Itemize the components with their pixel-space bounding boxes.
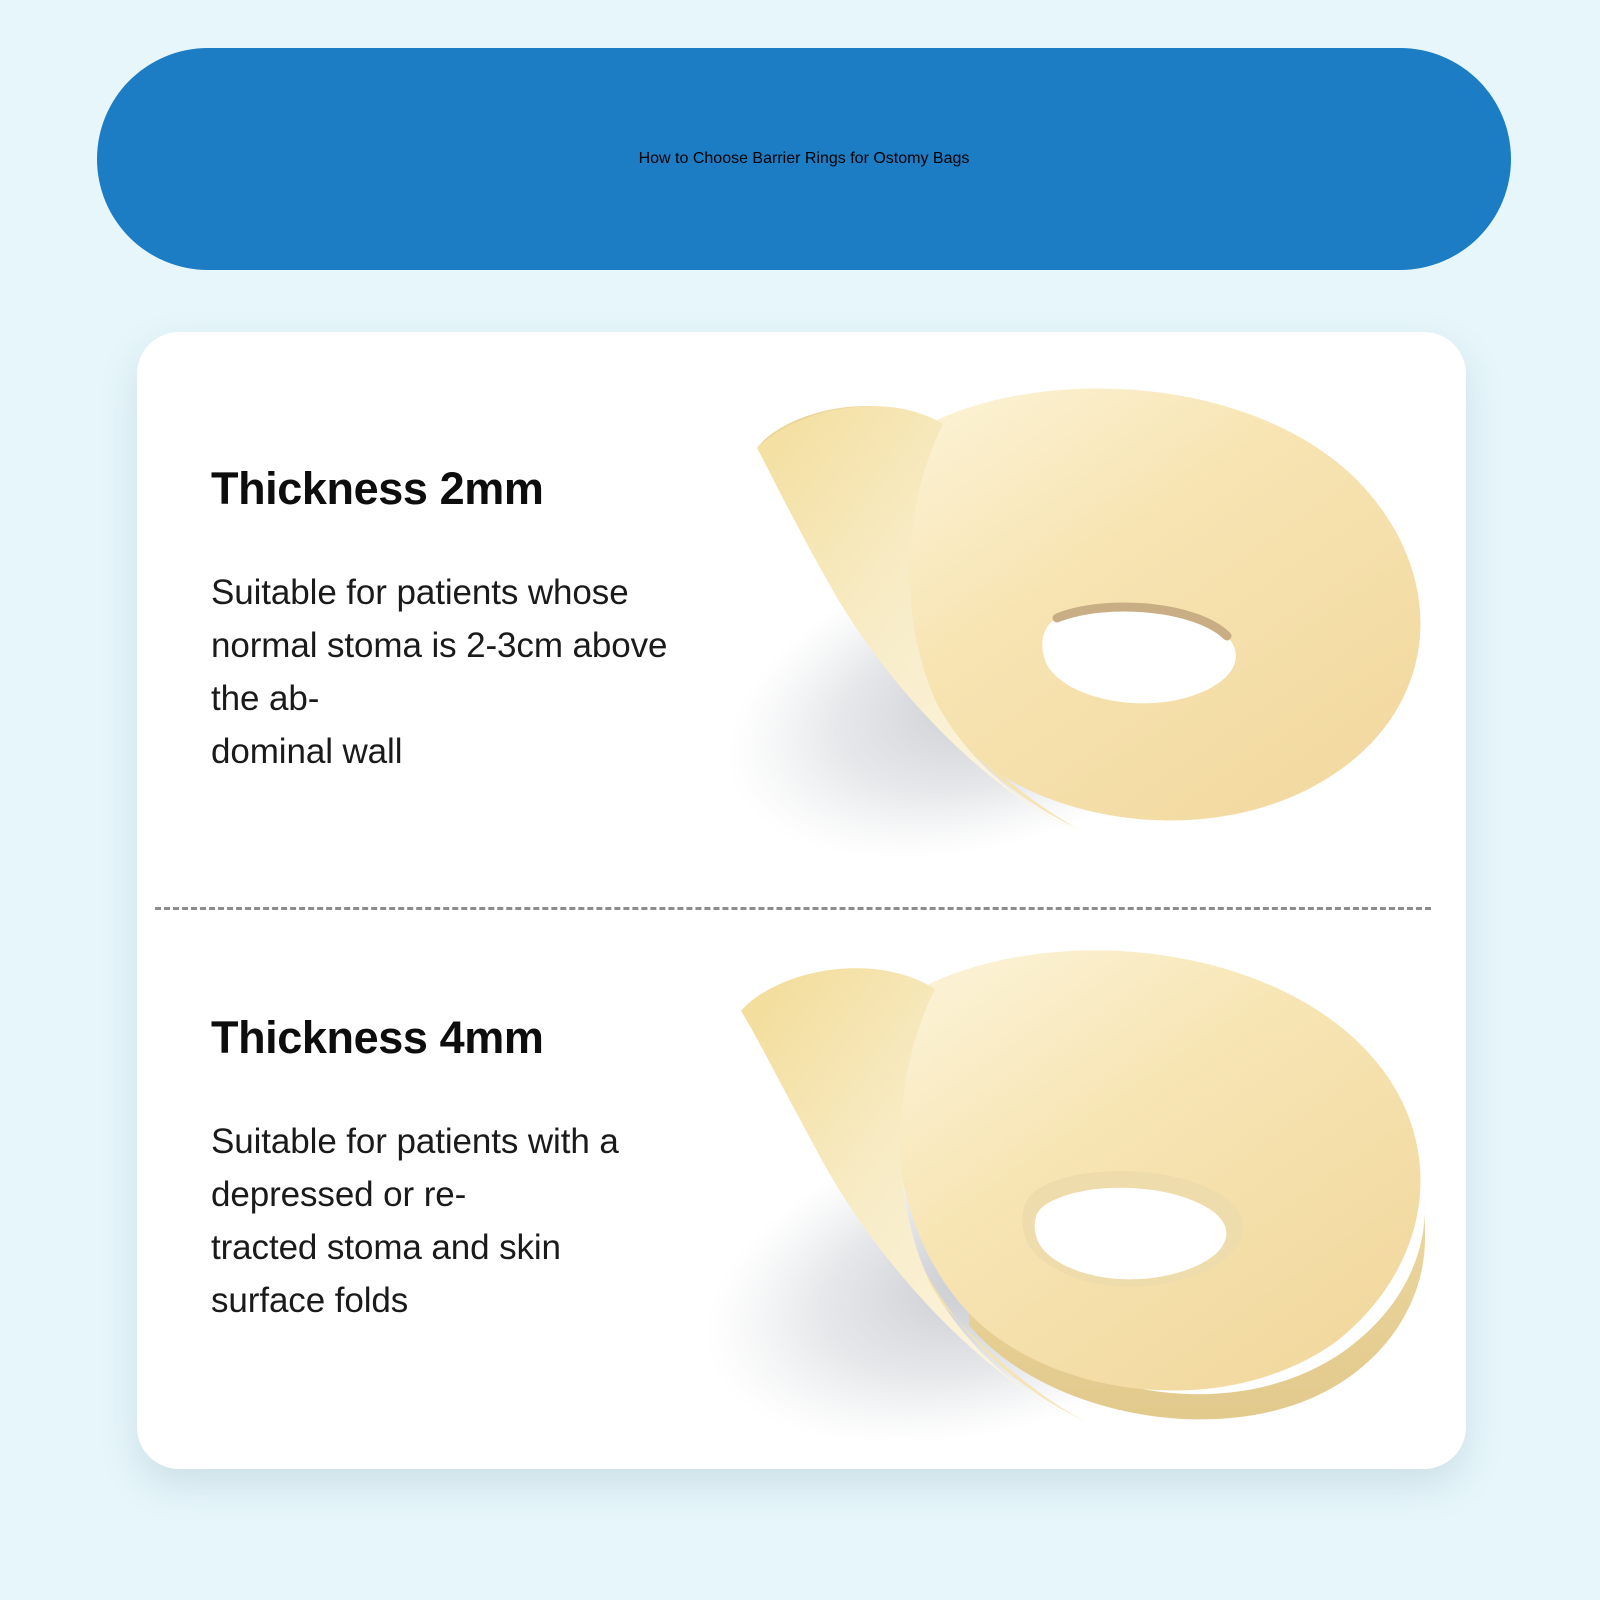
section-2mm-text-block: Thickness 2mm Suitable for patients whos…: [211, 464, 681, 778]
section-2mm-heading: Thickness 2mm: [211, 464, 681, 514]
title-banner: How to Choose Barrier Rings for Ostomy B…: [97, 48, 1511, 270]
section-2mm-description: Suitable for patients whose normal stoma…: [211, 566, 681, 779]
content-card: Thickness 2mm Suitable for patients whos…: [137, 332, 1466, 1469]
section-thickness-2mm: Thickness 2mm Suitable for patients whos…: [137, 332, 1466, 900]
section-thickness-4mm: Thickness 4mm Suitable for patients with…: [137, 901, 1466, 1469]
section-4mm-description: Suitable for patients with a depressed o…: [211, 1115, 681, 1328]
section-4mm-heading: Thickness 4mm: [211, 1013, 681, 1063]
page-title: How to Choose Barrier Rings for Ostomy B…: [639, 150, 970, 168]
section-4mm-text-block: Thickness 4mm Suitable for patients with…: [211, 1013, 681, 1327]
barrier-ring-4mm-illustration: [637, 929, 1437, 1439]
barrier-ring-2mm-illustration: [637, 360, 1437, 870]
